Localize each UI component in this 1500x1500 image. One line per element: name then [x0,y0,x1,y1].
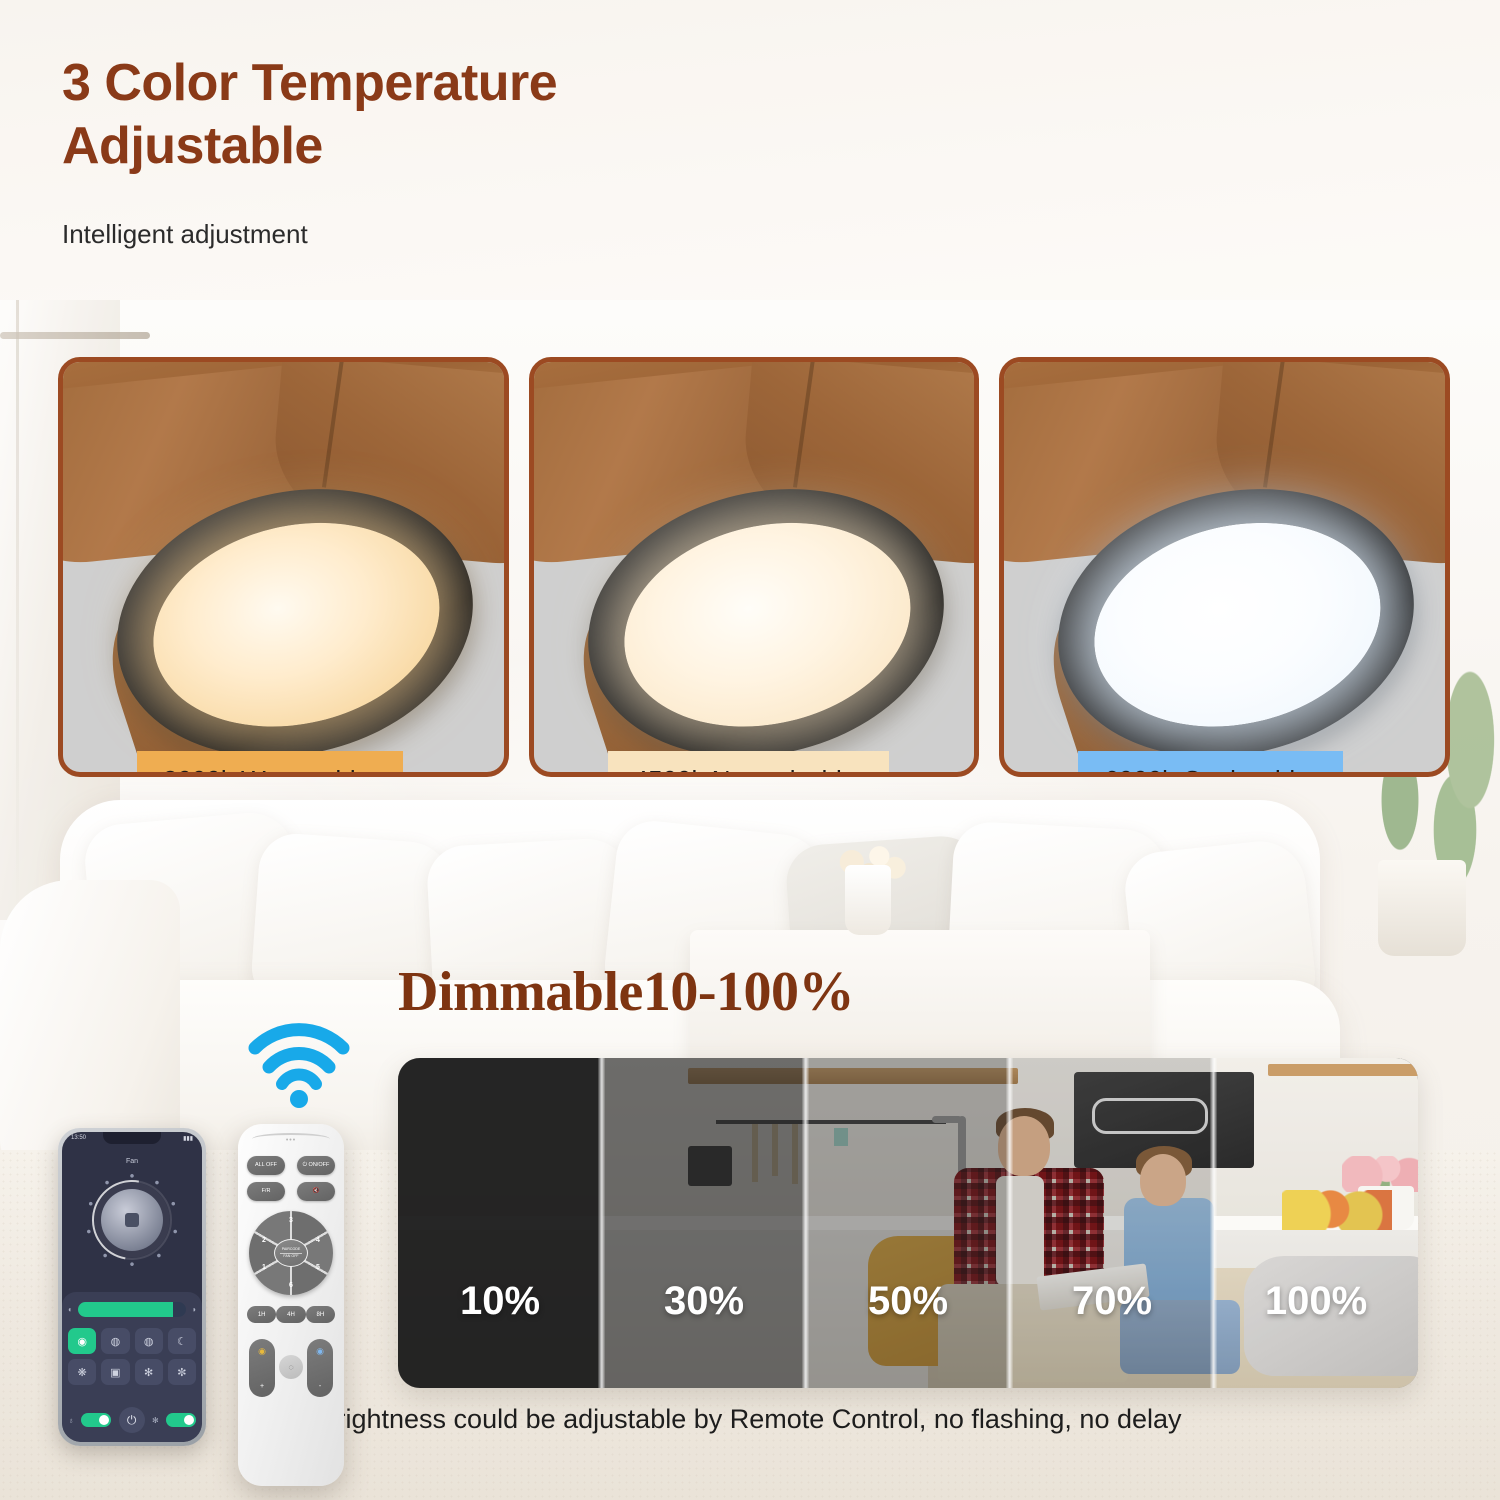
color-temperature-panel-natural: 4500k Natural white [529,357,980,777]
bulb-on-icon[interactable]: ◉ [68,1328,96,1354]
dimming-divider [802,1058,809,1388]
status-time: 13:50 [71,1135,86,1142]
led-lens-warm [133,496,460,754]
dimming-label-50: 50% [868,1279,948,1324]
color-temperature-panel-cool: 6000k Cool wvhite [999,357,1450,777]
brightness-slider-row[interactable]: ◐ ◑ [68,1302,196,1317]
fan-blades-icon [101,1189,163,1251]
dimming-label-70: 70% [1072,1279,1152,1324]
dimming-label-10: 10% [460,1279,540,1324]
bulb-icon[interactable]: ◍ [135,1328,163,1354]
dimming-label-30: 30% [664,1279,744,1324]
dimming-segment-100: 100% [1214,1058,1418,1388]
remote-timer-4h[interactable]: 4H [276,1306,305,1323]
remote-speed-5[interactable]: 5 [313,1264,323,1271]
dimming-overlay-70 [1010,1058,1214,1388]
dimming-segment-10: 10% [398,1058,602,1388]
remote-cool-light-button[interactable]: ◉ - [307,1339,333,1397]
remote-fan-off-label: FAN OFF [283,1254,298,1259]
remote-speed-4[interactable]: 4 [313,1237,323,1244]
phone-screen[interactable]: 13:50 ▮▮▮ Fan ◐ ◑ ◉ ◍ ◍ ☾ ❋ ▣ ✻ ✼ [62,1132,202,1442]
remote-on-off-button[interactable]: ⏻ ON/OFF [297,1156,335,1175]
remote-row-power[interactable]: ALL OFF ⏻ ON/OFF [247,1156,335,1175]
remote-brightness-down-label: - [319,1383,321,1390]
remote-all-off-button[interactable]: ALL OFF [247,1156,285,1175]
color-temperature-panel-warm: 3000k Warm white [58,357,509,777]
remote-speed-dial[interactable]: 3 4 5 6 1 2 PAIRCODE FAN OFF [249,1211,333,1295]
curtain-rod [0,332,150,339]
remote-light-controls[interactable]: ◉ + ◌ ◉ - [247,1339,335,1431]
dimming-overlay-100 [1214,1058,1418,1388]
app-icon-grid[interactable]: ◉ ◍ ◍ ☾ ❋ ▣ ✻ ✼ [68,1328,196,1385]
dimming-overlay-10 [398,1058,602,1388]
color-temperature-label-natural: 4500k Natural white [608,751,890,777]
phone-status-bar: 13:50 ▮▮▮ [62,1135,202,1142]
cool-bulb-icon: ◉ [316,1346,324,1357]
header: 3 Color Temperature Adjustable Intellige… [62,52,557,250]
bulb-icon[interactable]: ◍ [101,1328,129,1354]
dimming-level-strip: 10% 30% 50% 70% 100% [398,1058,1418,1388]
remote-timer-1h[interactable]: 1H [247,1306,276,1323]
snowflake-icon[interactable]: ✼ [168,1359,196,1385]
dimming-divider [1006,1058,1013,1388]
remote-light-toggle-button[interactable]: ◌ [279,1355,303,1379]
moon-icon[interactable]: ☾ [168,1328,196,1354]
wifi-icon [247,1022,351,1108]
status-icons: ▮▮▮ [183,1135,193,1142]
bulb-toggle-icon: ◌ [288,1362,293,1372]
remote-timer-8h[interactable]: 8H [306,1306,335,1323]
bulb-dim-icon[interactable]: ❋ [68,1359,96,1385]
fan-light-photo-natural [534,362,975,772]
remote-speed-3[interactable]: 3 [286,1217,296,1224]
smartphone-app[interactable]: 13:50 ▮▮▮ Fan ◐ ◑ ◉ ◍ ◍ ☾ ❋ ▣ ✻ ✼ [58,1128,206,1446]
remote-paircode-label: PAIRCODE [282,1247,301,1252]
dimming-segment-50: 50% [806,1058,1010,1388]
remote-speed-6[interactable]: 6 [286,1282,296,1289]
dimming-divider [1210,1058,1217,1388]
remote-ir-dots: ••• [286,1137,296,1144]
fan-speed-dial[interactable] [84,1172,180,1268]
page-title: 3 Color Temperature Adjustable [62,52,557,179]
dimming-overlay-50 [806,1058,1010,1388]
square-icon[interactable]: ▣ [101,1359,129,1385]
dimming-divider [598,1058,605,1388]
remote-control[interactable]: ••• ALL OFF ⏻ ON/OFF F/R 🔇 3 4 5 6 1 2 P… [238,1124,344,1486]
fan-light-photo-warm [63,362,504,772]
dimming-caption: Brightness could be adjustable by Remote… [0,1404,1500,1435]
warm-bulb-icon: ◉ [258,1346,266,1357]
potted-plant-pot [1378,860,1466,956]
flower-vase [845,865,891,935]
remote-timer-row[interactable]: 1H 4H 8H [247,1306,335,1323]
dimming-overlay-30 [602,1058,806,1388]
led-lens-natural [604,496,931,754]
color-temperature-panel-group: 3000k Warm white 4500k Natural white [58,357,1450,777]
fan-light-photo-cool [1004,362,1445,772]
dimmable-title: Dimmable10-100% [398,960,854,1024]
remote-speed-1[interactable]: 1 [259,1264,269,1271]
brightness-slider[interactable] [78,1302,186,1317]
dimming-segment-70: 70% [1010,1058,1214,1388]
remote-brightness-up-label: + [260,1383,264,1390]
remote-paircode-fan-off-button[interactable]: PAIRCODE FAN OFF [274,1239,308,1267]
remote-fr-button[interactable]: F/R [247,1182,285,1201]
brightness-low-icon: ◐ [68,1305,73,1314]
dimming-label-100: 100% [1265,1279,1367,1324]
led-lens-cool [1074,496,1401,754]
snowflake-icon[interactable]: ✻ [135,1359,163,1385]
page-title-line-1: 3 Color Temperature [62,52,557,115]
page-title-line-2: Adjustable [62,115,557,178]
color-temperature-label-warm: 3000k Warm white [137,751,403,777]
dimming-segment-30: 30% [602,1058,806,1388]
page-subtitle: Intelligent adjustment [62,219,557,250]
brightness-high-icon: ◑ [191,1305,196,1314]
color-temperature-label-cool: 6000k Cool wvhite [1078,751,1342,777]
remote-mute-icon-button[interactable]: 🔇 [297,1182,335,1201]
remote-speed-2[interactable]: 2 [259,1237,269,1244]
app-screen-title: Fan [62,1158,202,1165]
remote-warm-light-button[interactable]: ◉ + [249,1339,275,1397]
remote-row-direction[interactable]: F/R 🔇 [247,1182,335,1201]
